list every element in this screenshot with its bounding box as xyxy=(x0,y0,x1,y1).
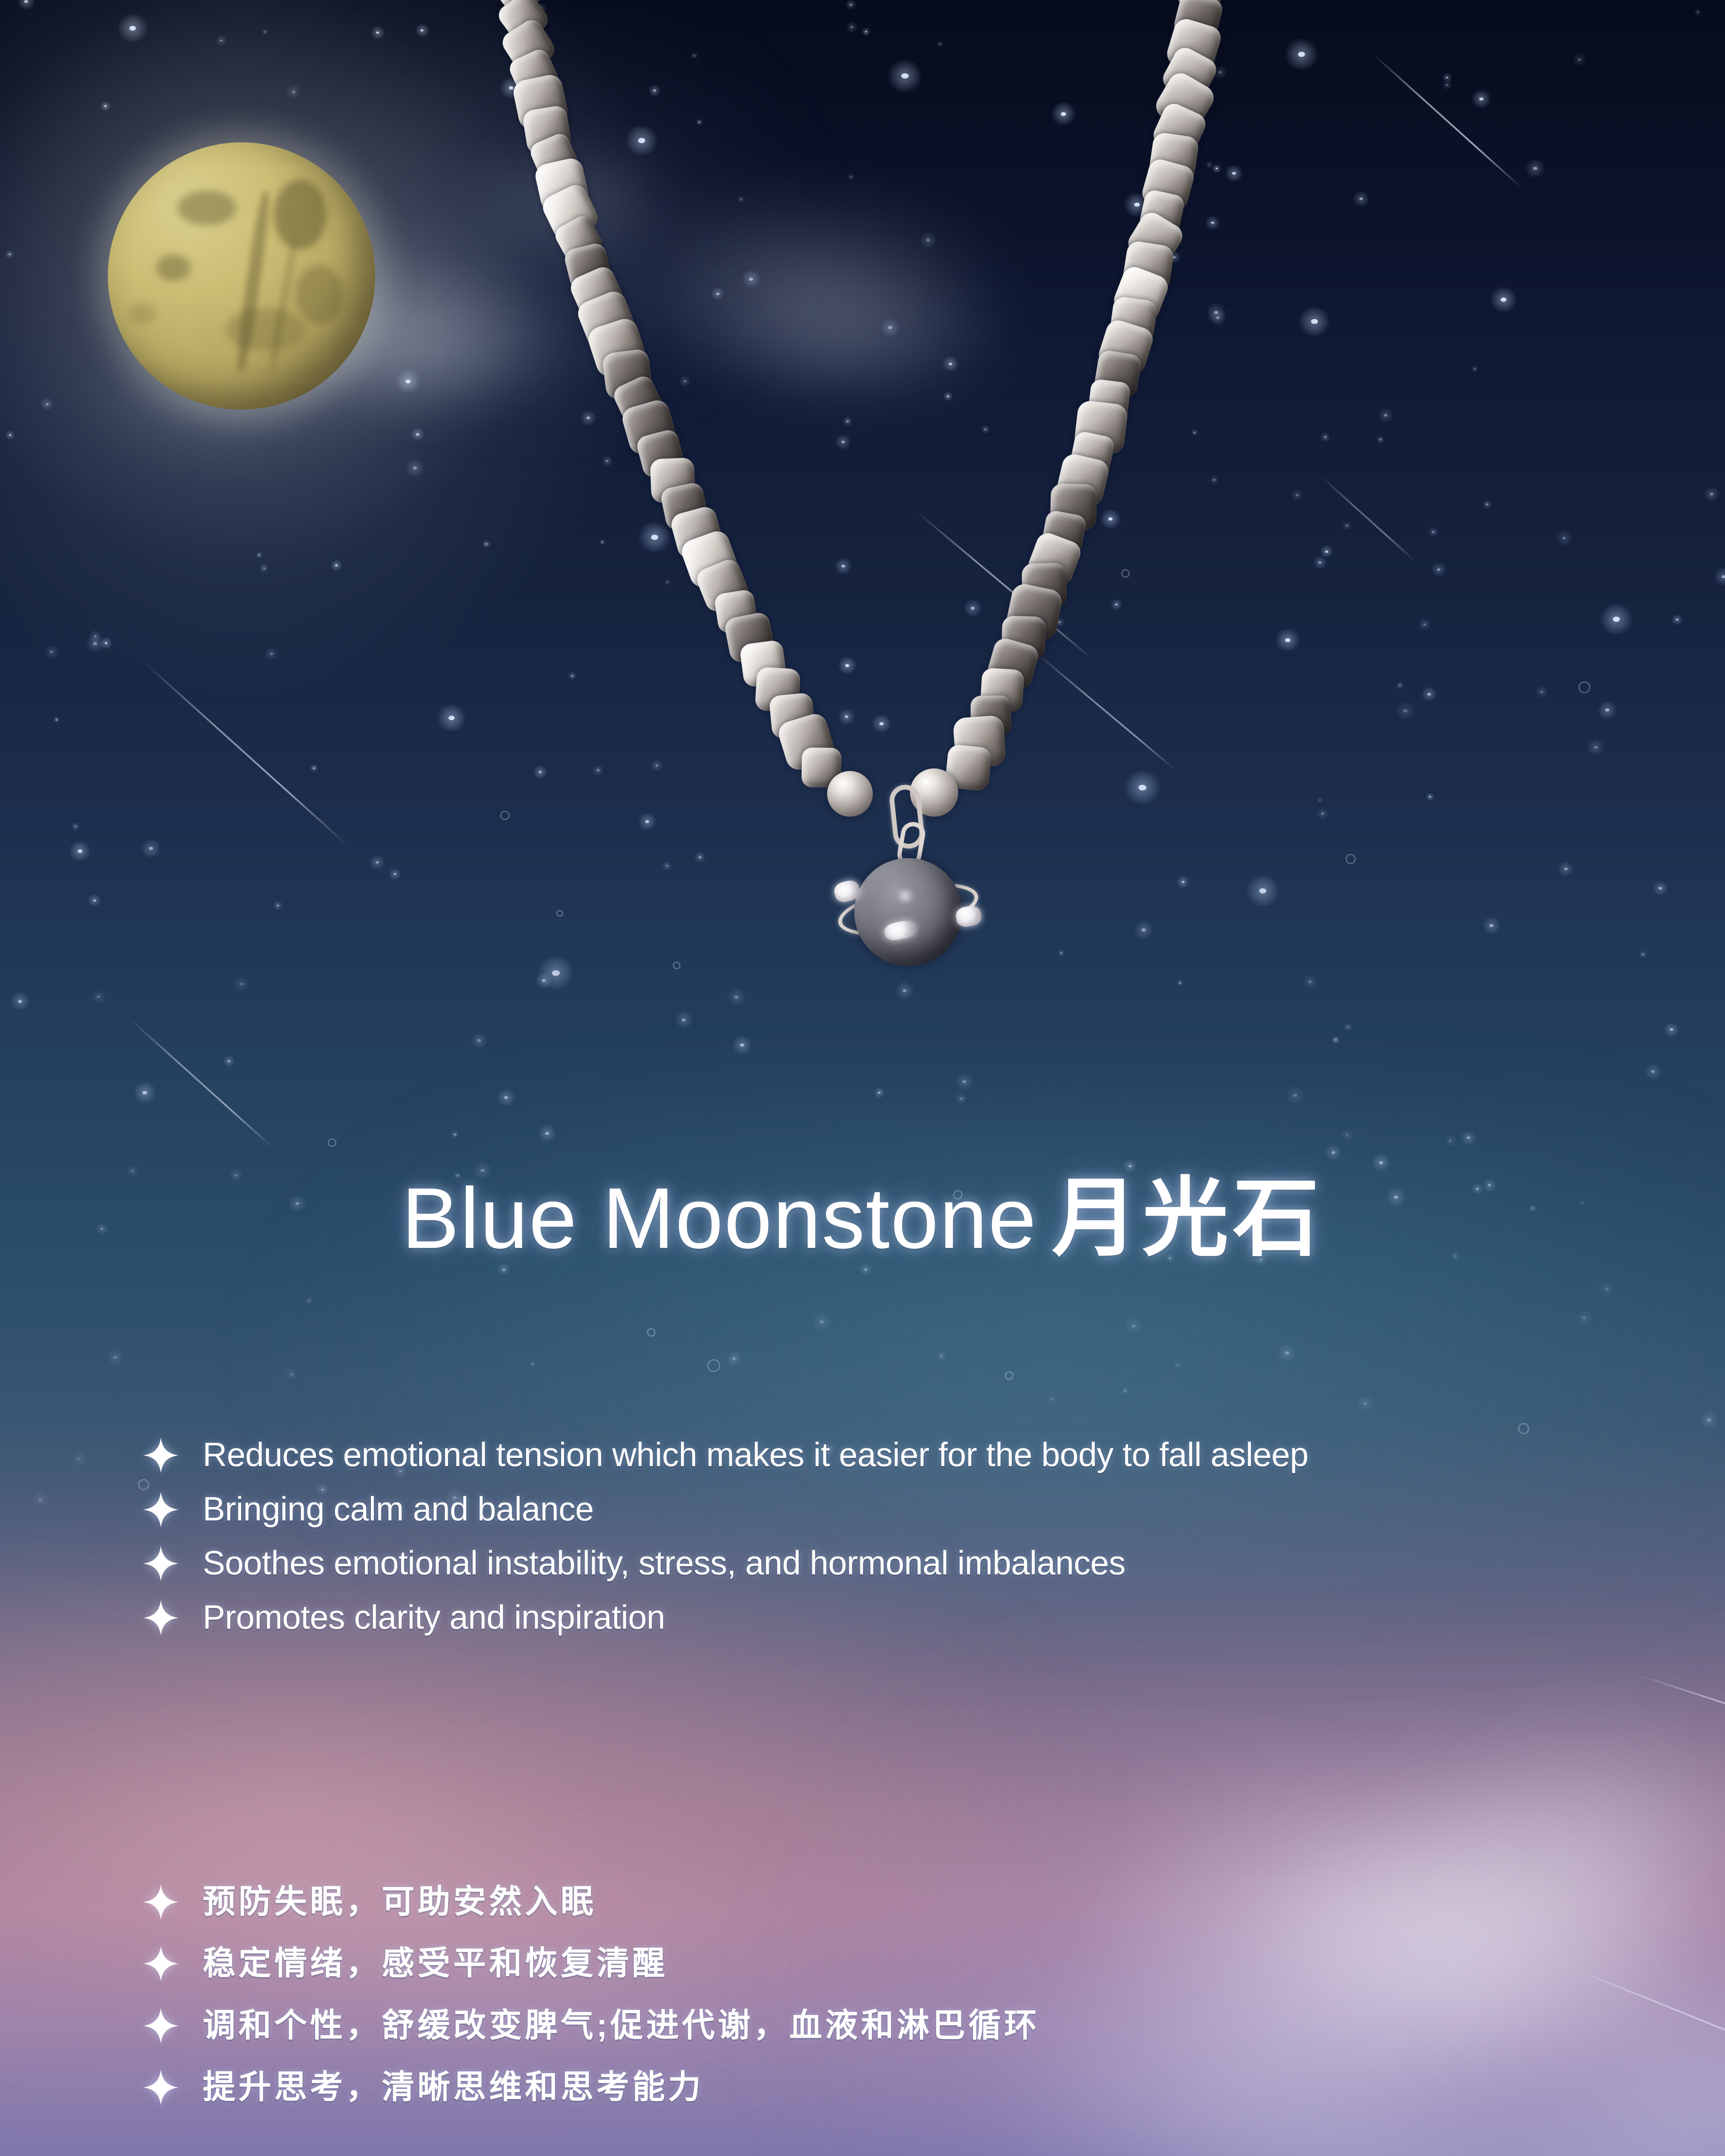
title-chinese: 月光石 xyxy=(1052,1170,1324,1266)
star-icon xyxy=(732,1357,736,1360)
sparkle-icon xyxy=(142,2069,179,2106)
benefit-cn-item: 调和个性，舒缓改变脾气;促进代谢，血液和淋巴循环 xyxy=(142,2005,1678,2046)
benefit-en-item: Reduces emotional tension which makes it… xyxy=(142,1432,1678,1477)
benefit-en-item: Promotes clarity and inspiration xyxy=(142,1595,1678,1640)
benefit-cn-item: 预防失眠，可助安然入眠 xyxy=(142,1881,1678,1923)
benefits-list-english: Reduces emotional tension which makes it… xyxy=(142,1432,1678,1649)
star-icon xyxy=(1346,1134,1349,1136)
star-icon xyxy=(940,1355,943,1357)
star-icon xyxy=(502,1269,505,1271)
star-icon xyxy=(820,1320,824,1323)
star-icon xyxy=(1285,1351,1289,1354)
star-icon xyxy=(1449,1140,1452,1142)
star-icon xyxy=(1124,1390,1126,1391)
benefit-cn-text: 提升思考，清晰思维和思考能力 xyxy=(203,2066,704,2108)
benefit-en-text: Reduces emotional tension which makes it… xyxy=(203,1432,1308,1477)
star-icon xyxy=(532,1363,533,1365)
benefit-cn-text: 稳定情绪，感受平和恢复清醒 xyxy=(203,1943,668,1984)
benefit-cn-text: 预防失眠，可助安然入眠 xyxy=(203,1881,596,1923)
circle-outline-icon xyxy=(707,1359,720,1372)
shooting-star-icon xyxy=(1634,1673,1725,1749)
star-icon xyxy=(864,1269,867,1271)
circle-outline-icon xyxy=(328,1138,336,1147)
sparkle-icon xyxy=(142,1599,179,1636)
star-icon xyxy=(38,1498,42,1501)
sparkle-icon xyxy=(142,1491,179,1528)
saturn-sphere xyxy=(854,858,962,966)
benefit-en-text: Bringing calm and balance xyxy=(203,1487,594,1532)
title-english: Blue Moonstone xyxy=(401,1170,1037,1266)
star-icon xyxy=(77,1457,81,1460)
benefit-en-text: Soothes emotional instability, stress, a… xyxy=(203,1541,1126,1586)
sparkle-bullet-icon xyxy=(142,1437,179,1474)
star-icon xyxy=(1707,1419,1711,1422)
star-icon xyxy=(454,1134,456,1135)
star-icon xyxy=(131,1170,134,1172)
star-icon xyxy=(1582,1316,1586,1319)
star-icon xyxy=(1467,1137,1470,1139)
sparkle-bullet-icon xyxy=(142,2007,179,2044)
benefit-cn-item: 稳定情绪，感受平和恢复清醒 xyxy=(142,1943,1678,1984)
benefit-cn-text: 调和个性，舒缓改变脾气;促进代谢，血液和淋巴循环 xyxy=(203,2005,1040,2046)
star-icon xyxy=(1129,1165,1132,1167)
sparkle-bullet-icon xyxy=(142,1491,179,1528)
star-icon xyxy=(308,1300,310,1301)
sparkle-bullet-icon xyxy=(142,1599,179,1636)
star-icon xyxy=(1379,1161,1383,1164)
star-icon xyxy=(1051,1398,1053,1400)
circle-outline-icon xyxy=(647,1328,655,1337)
sparkle-bullet-icon xyxy=(142,1945,179,1982)
benefits-list-chinese: 预防失眠，可助安然入眠稳定情绪，感受平和恢复清醒调和个性，舒缓改变脾气;促进代谢… xyxy=(142,1881,1678,2128)
sparkle-icon xyxy=(142,2007,179,2044)
sparkle-icon xyxy=(142,1945,179,1982)
saturn-pendant xyxy=(834,785,981,970)
sparkle-bullet-icon xyxy=(142,1883,179,1921)
sparkle-bullet-icon xyxy=(142,2069,179,2106)
sparkle-icon xyxy=(142,1437,179,1474)
sparkle-bullet-icon xyxy=(142,1545,179,1582)
star-icon xyxy=(1364,1402,1367,1405)
sparkle-icon xyxy=(142,1545,179,1582)
benefit-en-item: Soothes emotional instability, stress, a… xyxy=(142,1541,1678,1586)
star-icon xyxy=(1605,1288,1609,1290)
star-icon xyxy=(1176,1364,1179,1366)
benefit-cn-item: 提升思考，清晰思维和思考能力 xyxy=(142,2066,1678,2108)
saturn-highlight xyxy=(895,888,916,904)
star-icon xyxy=(545,1132,549,1135)
circle-outline-icon xyxy=(1005,1371,1013,1380)
star-icon xyxy=(113,1356,117,1359)
sparkle-icon xyxy=(142,1883,179,1921)
page-title: Blue Moonstone月光石 xyxy=(0,1175,1725,1262)
benefit-en-text: Promotes clarity and inspiration xyxy=(203,1595,665,1640)
star-icon xyxy=(290,1373,293,1376)
star-icon xyxy=(1332,1151,1335,1154)
product-poster: Blue Moonstone月光石 Reduces emotional tens… xyxy=(0,0,1725,2156)
star-icon xyxy=(1132,1325,1135,1328)
benefit-en-item: Bringing calm and balance xyxy=(142,1487,1678,1532)
